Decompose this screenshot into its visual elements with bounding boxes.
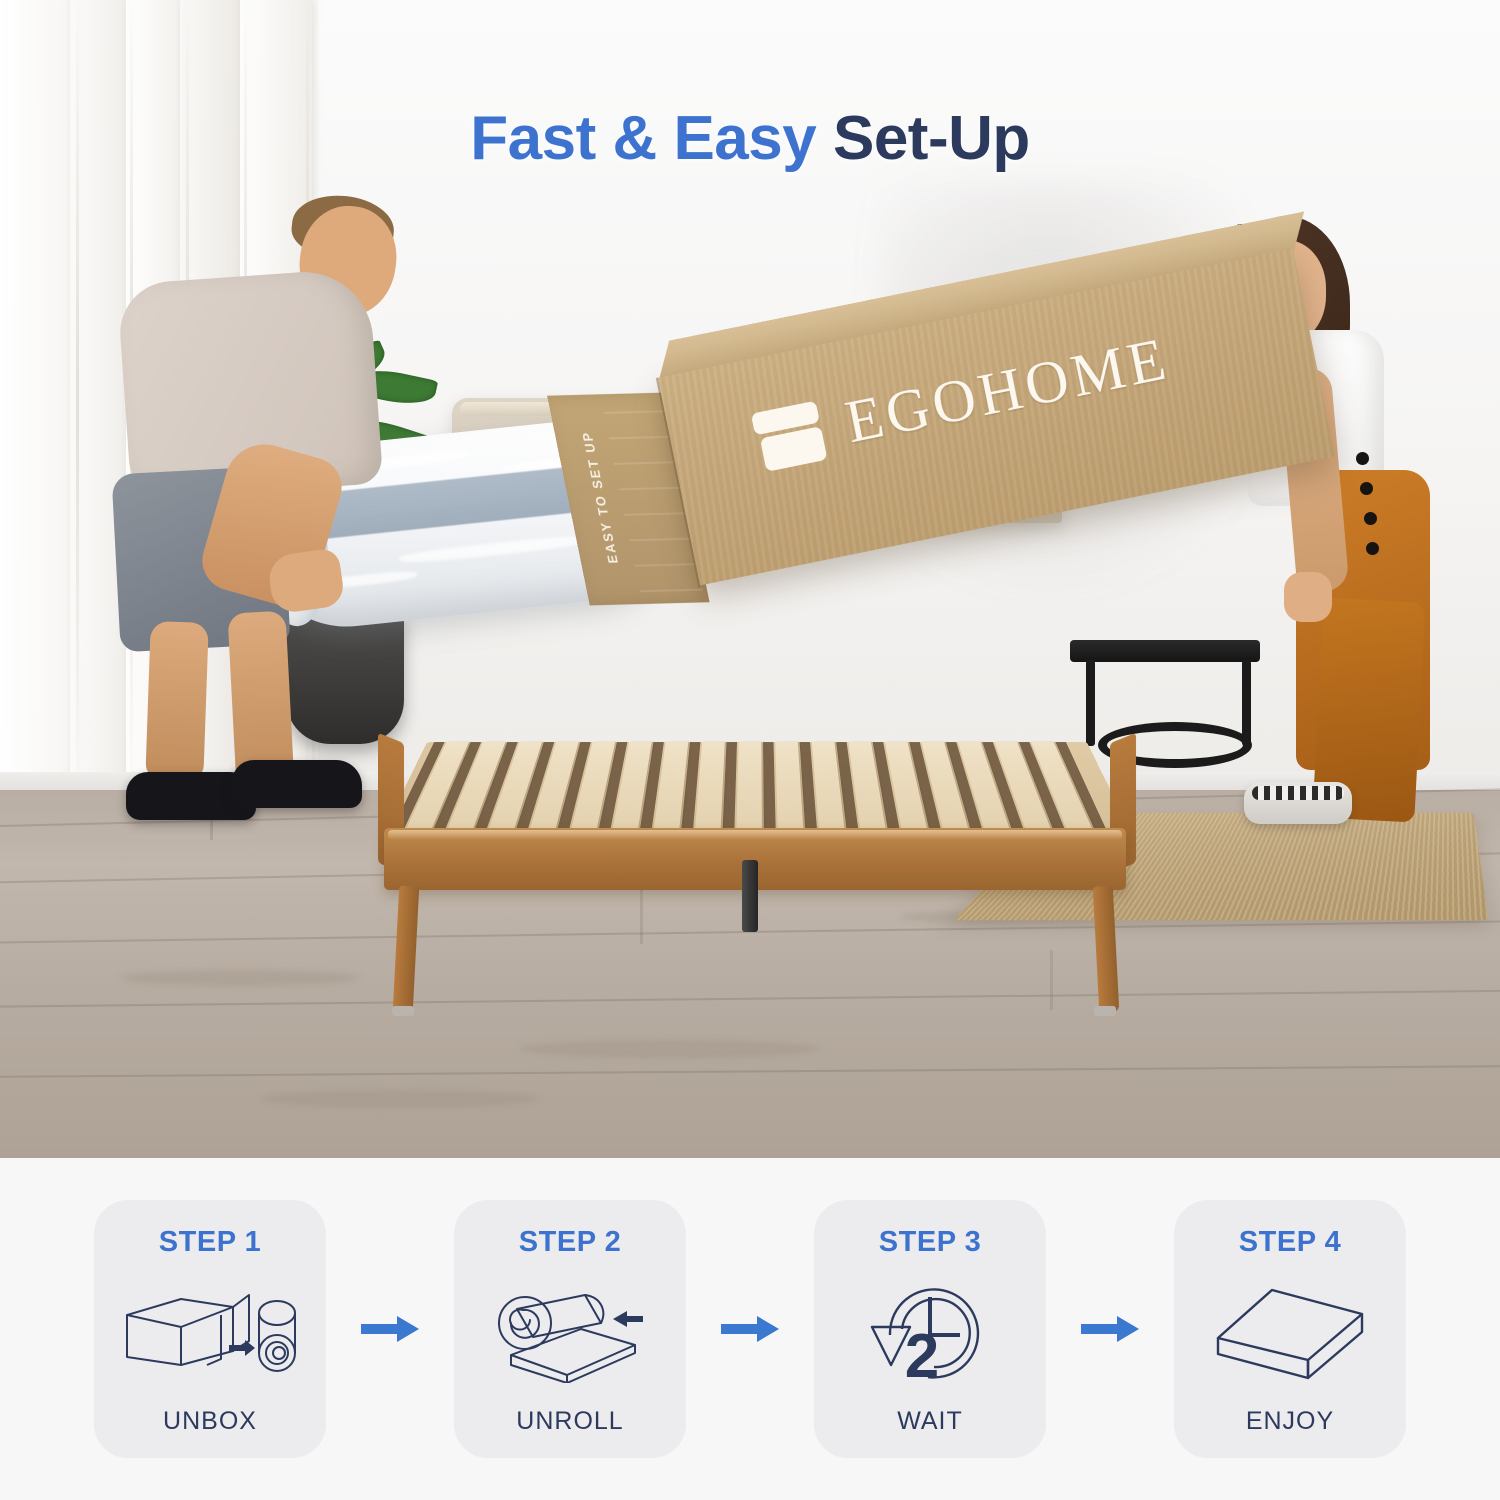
step-card-2[interactable]: STEP 2 UNROLL — [454, 1200, 686, 1458]
step-arrow-2 — [686, 1200, 814, 1458]
step-2-label: UNROLL — [516, 1407, 623, 1458]
step-arrow-1 — [326, 1200, 454, 1458]
step-4-art — [1174, 1259, 1406, 1407]
clock-arrow-icon: 2 — [866, 1271, 994, 1395]
step-4-label: ENJOY — [1246, 1407, 1334, 1458]
step-card-3[interactable]: STEP 3 2 WAIT — [814, 1200, 1046, 1458]
step-3-title: STEP 3 — [879, 1226, 981, 1259]
step-3-label: WAIT — [897, 1407, 963, 1458]
arrow-right-icon — [1081, 1316, 1139, 1342]
mattress-stack-icon — [750, 396, 828, 474]
box-to-roll-icon — [121, 1285, 299, 1381]
wait-hours-badge: 2 — [905, 1322, 939, 1391]
step-card-1[interactable]: STEP 1 — [94, 1200, 326, 1458]
step-card-4[interactable]: STEP 4 ENJOY — [1174, 1200, 1406, 1458]
bed-center-support — [742, 860, 758, 932]
promo-image: EASY TO SET UP EGOHOME Fast & Easy Set-U… — [0, 0, 1500, 1500]
bed-leg-cap — [1094, 1006, 1116, 1016]
page-title-blue: Fast & Easy — [470, 104, 833, 173]
step-3-art: 2 — [814, 1259, 1046, 1407]
page-title-navy: Set-Up — [833, 104, 1030, 173]
man-leg — [145, 621, 209, 783]
side-table-leg — [1242, 660, 1251, 746]
unrolling-mattress-icon — [481, 1283, 659, 1383]
woman-hand — [1284, 572, 1332, 622]
steps-strip: STEP 1 — [0, 1158, 1500, 1500]
bed-leg-cap — [392, 1006, 414, 1016]
step-2-title: STEP 2 — [519, 1226, 621, 1259]
step-1-title: STEP 1 — [159, 1226, 261, 1259]
step-1-label: UNBOX — [163, 1407, 257, 1458]
page-title: Fast & Easy Set-Up — [0, 108, 1500, 170]
arrow-right-icon — [361, 1316, 419, 1342]
man-shoe — [232, 760, 362, 808]
hero-photo: EASY TO SET UP EGOHOME Fast & Easy Set-U… — [0, 0, 1500, 1158]
step-2-art — [454, 1259, 686, 1407]
arrow-right-icon — [721, 1316, 779, 1342]
step-4-title: STEP 4 — [1239, 1226, 1341, 1259]
bed-rail-highlight — [388, 830, 1122, 840]
step-1-art — [94, 1259, 326, 1407]
step-arrow-3 — [1046, 1200, 1174, 1458]
flat-mattress-icon — [1210, 1280, 1370, 1386]
woman-sandal-strap — [1252, 786, 1344, 800]
